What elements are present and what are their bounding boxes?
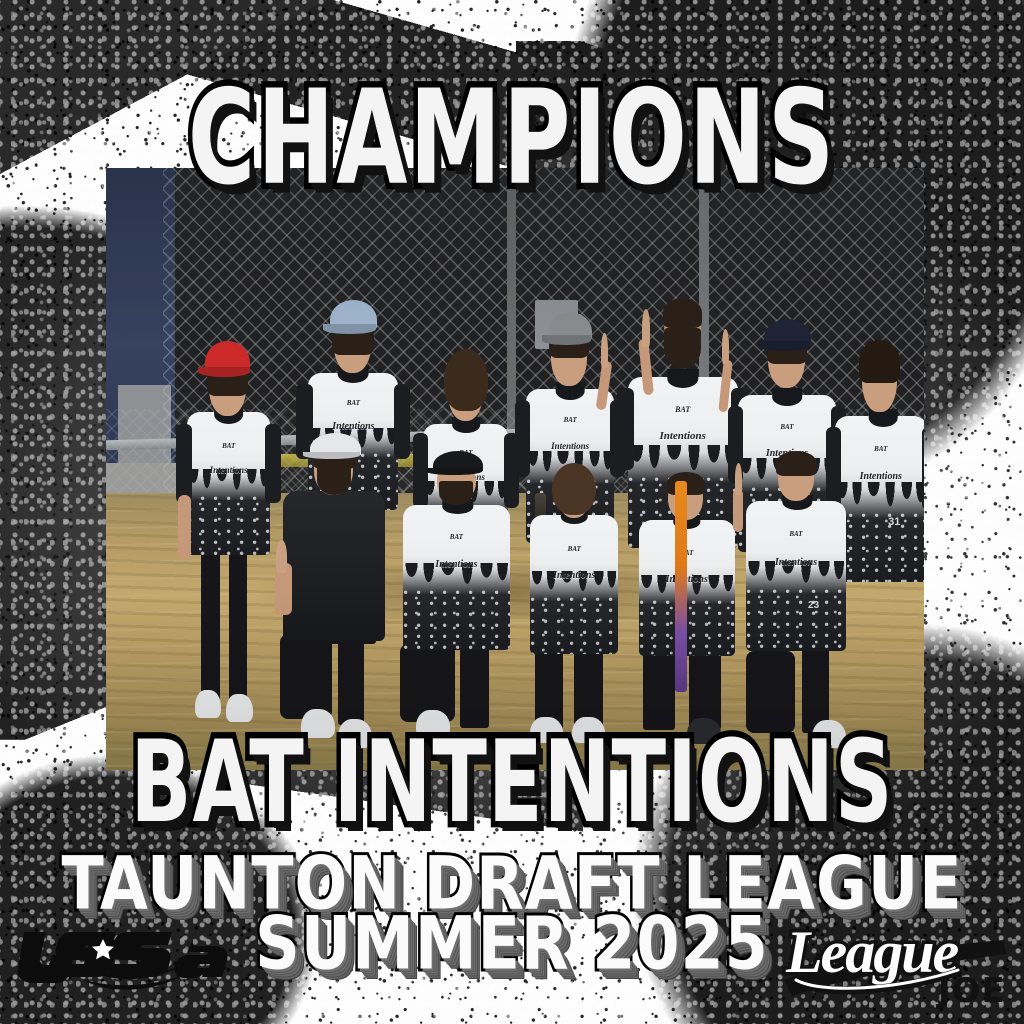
player-front-1 xyxy=(270,433,401,758)
page-title: CHAMPIONS xyxy=(0,62,1024,214)
blue-cap xyxy=(330,300,377,329)
black-shirt xyxy=(283,491,385,641)
team-name-title: BAT INTENTIONS xyxy=(0,716,1024,848)
player-front-3: BAT Intentions xyxy=(519,469,629,758)
number-one-finger xyxy=(601,333,608,368)
thumbs-up xyxy=(276,540,286,573)
number-one-finger xyxy=(722,329,729,364)
navy-cap xyxy=(764,319,810,347)
jersey-number: 31 xyxy=(888,516,900,528)
jersey-number: 23 xyxy=(808,600,819,611)
white-cap xyxy=(310,433,361,456)
number-one-finger xyxy=(735,463,742,494)
joe-block-text: JOE xyxy=(936,971,1006,1010)
black-cap xyxy=(433,451,483,472)
champions-poster: BAT Intentions BAT Intentions xyxy=(0,0,1024,1024)
red-cap xyxy=(205,341,251,373)
grey-cap xyxy=(548,312,592,340)
bat-orange xyxy=(675,481,687,692)
league-joe-logo: League JOE xyxy=(778,910,1010,1010)
beard xyxy=(664,328,701,369)
team-photo-content: BAT Intentions BAT Intentions xyxy=(106,168,924,770)
usssa-logo xyxy=(14,922,242,996)
jersey: BAT Intentions xyxy=(187,412,269,555)
league-script-text: League xyxy=(785,919,959,985)
jersey: BAT Intentions xyxy=(530,515,618,654)
number-one-finger xyxy=(642,309,650,346)
beard xyxy=(317,465,351,494)
jersey: BAT Intentions xyxy=(639,520,735,656)
player-front-2: BAT Intentions xyxy=(392,457,523,758)
jersey: BAT Intentions xyxy=(403,505,510,649)
team-photo: BAT Intentions BAT Intentions xyxy=(106,168,924,770)
jersey: BAT Intentions 23 xyxy=(746,501,847,651)
